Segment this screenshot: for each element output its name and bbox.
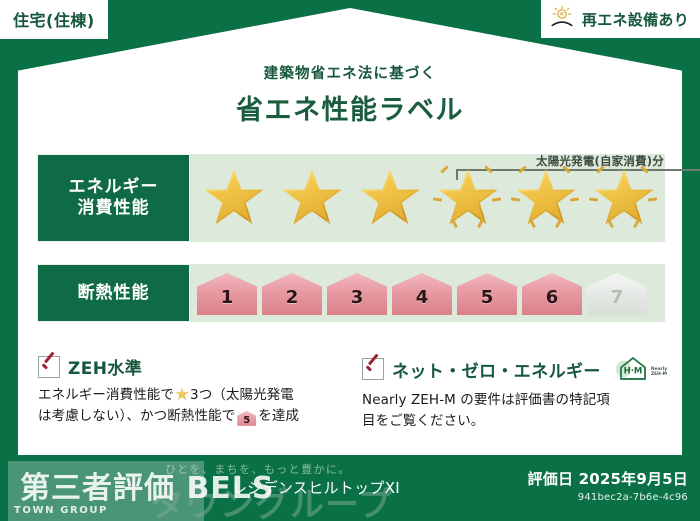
footer-bar: TOWN GROUP ひとを、まちを、もっと豊かに。 タウングループ 第三者評価… [0,455,700,521]
inline-house-level-badge: 5 [237,411,256,426]
nze-check-head: ネット・ゼロ・エネルギー H·M Nearly ZEH-M [362,354,662,384]
star-3 [352,154,428,242]
nze-desc-line1: Nearly ZEH-M の要件は評価書の特記項 [362,392,610,408]
zeh-desc-part3: を達成 [258,408,299,424]
inline-star-icon [175,387,189,401]
energy-label-line2: 消費性能 [78,198,150,219]
zeh-check-head: ZEH水準 [38,354,338,379]
energy-label-line1: エネルギー [69,177,159,198]
label-main-title: 省エネ性能ラベル [0,88,700,127]
star-rating-strip [190,154,665,242]
nze-desc-line2: 目をご覧ください。 [362,413,484,429]
star-1 [196,154,272,242]
evaluation-info: 評価日 2025年9月5日 941bec2a-7b6e-4c96 [528,468,688,503]
insulation-level-1: 1 [196,271,258,315]
property-name: レジデンスヒルトップXI [232,477,400,498]
energy-performance-value: 太陽光発電(自家消費)分 [190,154,665,242]
net-zero-energy-block: ネット・ゼロ・エネルギー H·M Nearly ZEH-M Nearly ZEH… [362,354,662,432]
insulation-performance-label: 断熱性能 [37,264,190,322]
insulation-level-strip: 1 2 3 4 5 6 7 [190,271,648,315]
insulation-label-text: 断熱性能 [78,283,150,304]
insulation-performance-value: 1 2 3 4 5 6 7 [190,264,665,322]
energy-performance-label: エネルギー 消費性能 [37,154,190,242]
energy-performance-label-card: 住宅(住棟) 再エネ設備あり 建築物省エネ法に基づく 省エネ性能ラベル [0,0,700,521]
evaluation-date: 評価日 2025年9月5日 [528,468,688,489]
zeh-description: エネルギー消費性能で3つ（太陽光発電 は考慮しない）、かつ断熱性能で5を達成 [38,385,338,427]
zeh-desc-stars: 3つ（太陽光発電 [190,387,294,403]
nze-title: ネット・ゼロ・エネルギー [392,357,601,382]
level-number: 2 [286,287,299,308]
nze-description: Nearly ZEH-M の要件は評価書の特記項 目をご覧ください。 [362,390,662,432]
zeh-title: ZEH水準 [68,354,142,379]
document-id: 941bec2a-7b6e-4c96 [528,492,688,503]
insulation-level-2: 2 [261,271,323,315]
zeh-standard-block: ZEH水準 エネルギー消費性能で3つ（太陽光発電 は考慮しない）、かつ断熱性能で… [38,354,338,427]
zeh-checkbox-checked-icon [38,356,60,378]
level-number: 3 [351,287,364,308]
zeh-desc-part1: エネルギー消費性能で [38,387,174,403]
nearly-zeh-m-logo: H·M Nearly ZEH-M [613,354,671,384]
energy-performance-row: エネルギー 消費性能 太陽光発電(自家消費)分 [37,154,665,242]
insulation-performance-row: 断熱性能 1 2 3 4 5 6 [37,264,665,322]
renewable-badge-label: 再エネ設備あり [582,9,689,30]
insulation-level-7: 7 [586,271,648,315]
building-type-tag: 住宅(住棟) [0,0,108,39]
level-number: 7 [611,287,624,308]
insulation-level-6: 6 [521,271,583,315]
zeh-desc-part2: は考慮しない）、かつ断熱性能で [38,408,235,424]
nze-checkbox-checked-icon [362,358,384,380]
renewable-energy-badge: 再エネ設備あり [541,0,700,38]
insulation-level-3: 3 [326,271,388,315]
level-number: 6 [546,287,559,308]
sun-renewable-icon [549,5,575,33]
label-subtitle: 建築物省エネ法に基づく [0,62,700,83]
level-number: 4 [416,287,429,308]
insulation-level-4: 4 [391,271,453,315]
level-number: 5 [481,287,494,308]
svg-text:H·M: H·M [623,367,642,377]
level-number: 1 [221,287,234,308]
insulation-level-5: 5 [456,271,518,315]
star-4-solar [430,154,506,242]
star-6-solar [586,154,662,242]
star-2 [274,154,350,242]
svg-text:ZEH-M: ZEH-M [651,371,667,377]
title-block: 建築物省エネ法に基づく 省エネ性能ラベル [0,62,700,127]
star-5-solar [508,154,584,242]
